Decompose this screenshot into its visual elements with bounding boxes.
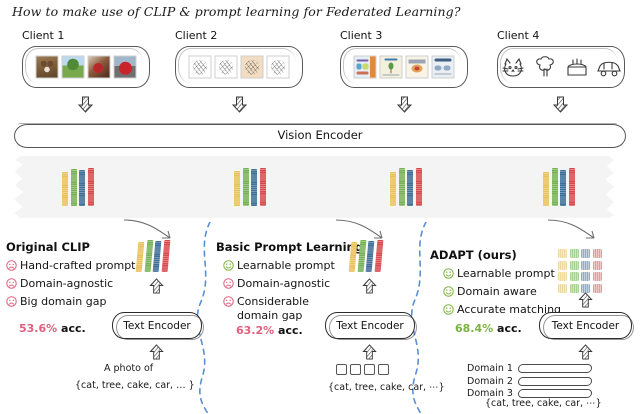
domain-label: Domain 2 — [467, 376, 513, 387]
client-4-thumbnails — [499, 55, 623, 79]
feature-item: Domain-agnostic — [6, 277, 113, 291]
vision-encoder-label: Vision Encoder — [0, 128, 640, 142]
client-4-box[interactable] — [497, 46, 625, 88]
car-sketch-thumb — [267, 56, 290, 79]
cat-infographic-thumb — [354, 56, 377, 79]
cat-quickdraw-thumb — [499, 55, 527, 79]
feature-text: Hand-crafted prompt — [20, 259, 136, 273]
feature-item: Domain aware — [443, 285, 537, 299]
prompt-classes-basic-prompt-learning: {cat, tree, cake, car, ⋯} — [328, 382, 445, 393]
panel-title-original-clip: Original CLIP — [6, 240, 90, 254]
feature-band — [14, 156, 614, 218]
panel-title-adapt: ADAPT (ours) — [430, 248, 517, 262]
grid-cell — [558, 284, 567, 293]
hatched-down-arrow-icon — [553, 96, 568, 113]
smiley-face-icon — [443, 268, 454, 279]
accuracy-unit: acc. — [61, 322, 86, 335]
client-2-thumbnails — [189, 56, 290, 79]
accuracy-value: 63.2% — [236, 324, 274, 337]
feature-text: Learnable prompt — [457, 267, 555, 281]
client-1-label: Client 1 — [22, 29, 64, 42]
grid-cell — [581, 272, 590, 281]
accuracy-value: 68.4% — [455, 322, 493, 335]
hatched-up-arrow-icon — [362, 344, 377, 361]
feature-bars-client-1 — [62, 168, 94, 206]
domain-prompt-bar — [517, 364, 592, 373]
feature-text: Big domain gap — [20, 295, 106, 309]
text-feature-bars-original-clip — [137, 240, 169, 272]
feature-item: Considerable domain gap — [223, 295, 309, 322]
sad-face-icon — [223, 278, 234, 289]
cake-quickdraw-thumb — [563, 55, 591, 79]
smiley-face-icon — [443, 304, 454, 315]
prompt-prefix-original-clip: A photo of — [104, 363, 153, 374]
grid-cell — [593, 284, 602, 293]
client-1-thumbnails — [36, 56, 137, 79]
feature-text: Domain-agnostic — [237, 277, 330, 291]
grid-cell — [593, 249, 602, 258]
accuracy-adapt: 68.4% acc. — [455, 322, 522, 335]
accuracy-unit: acc. — [497, 322, 522, 335]
feature-text: Domain aware — [457, 285, 537, 299]
grid-cell — [558, 272, 567, 281]
accuracy-original-clip: 53.6% acc. — [19, 322, 86, 335]
grid-cell — [581, 261, 590, 270]
learnable-token — [336, 364, 347, 375]
grid-cell — [570, 249, 579, 258]
grid-cell — [581, 249, 590, 258]
sad-face-icon — [6, 260, 17, 271]
accuracy-value: 53.6% — [19, 322, 57, 335]
hatched-up-arrow-icon — [578, 292, 593, 309]
domain-prompt-bar — [517, 377, 592, 386]
sad-face-icon — [223, 296, 234, 307]
cat-photo-thumb — [36, 56, 59, 79]
feature-item: Hand-crafted prompt — [6, 259, 136, 273]
cake-sketch-thumb — [241, 56, 264, 79]
hatched-down-arrow-icon — [232, 96, 247, 113]
text-feature-bars-basic-prompt-learning — [350, 240, 382, 272]
feature-text: Learnable prompt — [237, 259, 335, 273]
text-encoder-label: Text Encoder — [123, 320, 191, 332]
feature-bars-client-4 — [543, 168, 575, 206]
smiley-face-icon — [223, 260, 234, 271]
smiley-face-icon — [443, 286, 454, 297]
feature-text: Considerable domain gap — [237, 295, 309, 322]
grid-cell — [593, 272, 602, 281]
learnable-token — [378, 364, 389, 375]
learnable-token — [350, 364, 361, 375]
feature-link-curve-3 — [546, 218, 600, 244]
cat-sketch-thumb — [189, 56, 212, 79]
accuracy-unit: acc. — [278, 324, 303, 337]
domain-prompt-grid-adapt — [558, 249, 602, 293]
client-4-label: Client 4 — [497, 29, 539, 42]
grid-cell — [570, 272, 579, 281]
prompt-classes-adapt: {cat, tree, cake, car, ⋯} — [485, 398, 602, 409]
domain-label: Domain 1 — [467, 363, 513, 374]
text-encoder-adapt[interactable]: Text Encoder — [539, 312, 632, 339]
hatched-down-arrow-icon — [397, 96, 412, 113]
grid-cell — [558, 249, 567, 258]
grid-cell — [570, 261, 579, 270]
feature-item: Big domain gap — [6, 295, 106, 309]
cake-photo-thumb — [88, 56, 111, 79]
hatched-down-arrow-icon — [78, 96, 93, 113]
domain-row: Domain 2 — [467, 376, 592, 387]
domain-prompt-bar — [517, 389, 592, 398]
hatched-up-arrow-icon — [578, 344, 593, 361]
text-encoder-original-clip[interactable]: Text Encoder — [112, 312, 202, 339]
tree-quickdraw-thumb — [531, 55, 559, 79]
feature-item: Learnable prompt — [443, 267, 555, 281]
client-3-box[interactable] — [340, 46, 468, 88]
feature-item: Domain-agnostic — [223, 277, 330, 291]
grid-cell — [593, 261, 602, 270]
feature-bars-client-2 — [234, 168, 266, 206]
text-encoder-label: Text Encoder — [336, 320, 404, 332]
sad-face-icon — [6, 278, 17, 289]
feature-text: Domain-agnostic — [20, 277, 113, 291]
client-2-box[interactable] — [175, 46, 303, 88]
page-title: How to make use of CLIP & prompt learnin… — [12, 4, 461, 19]
hatched-up-arrow-icon — [362, 278, 377, 295]
domain-prompt-list: Domain 1 Domain 2 Domain 3 — [467, 363, 592, 401]
car-quickdraw-thumb — [595, 55, 623, 79]
grid-cell — [558, 261, 567, 270]
cake-infographic-thumb — [406, 56, 429, 79]
feature-bars-client-3 — [390, 168, 422, 206]
tree-sketch-thumb — [215, 56, 238, 79]
hatched-up-arrow-icon — [149, 278, 164, 295]
car-photo-thumb — [114, 56, 137, 79]
learnable-token-row — [336, 364, 389, 375]
client-2-label: Client 2 — [175, 29, 217, 42]
tree-infographic-thumb — [380, 56, 403, 79]
accuracy-basic-prompt-learning: 63.2% acc. — [236, 324, 303, 337]
client-3-label: Client 3 — [340, 29, 382, 42]
prompt-classes-original-clip: {cat, tree, cake, car, … } — [75, 380, 195, 391]
sad-face-icon — [6, 296, 17, 307]
text-encoder-basic-prompt-learning[interactable]: Text Encoder — [325, 312, 415, 339]
tree-photo-thumb — [62, 56, 85, 79]
panel-title-basic-prompt-learning: Basic Prompt Learning — [216, 240, 363, 254]
client-3-thumbnails — [354, 56, 455, 79]
text-encoder-label: Text Encoder — [552, 320, 620, 332]
hatched-up-arrow-icon — [149, 344, 164, 361]
feature-item: Learnable prompt — [223, 259, 335, 273]
learnable-token — [364, 364, 375, 375]
domain-row: Domain 1 — [467, 363, 592, 374]
car-infographic-thumb — [432, 56, 455, 79]
client-1-box[interactable] — [22, 46, 150, 88]
